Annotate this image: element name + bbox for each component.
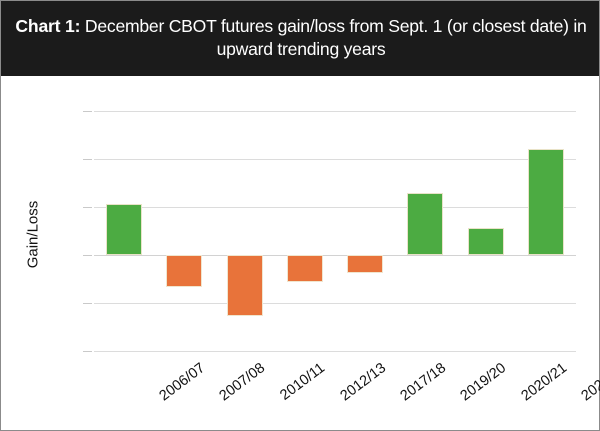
chart-figure: Chart 1: December CBOT futures gain/loss… xyxy=(0,0,600,431)
y-axis-tick-mark xyxy=(83,351,92,352)
x-axis-tick-label: 2007/08 xyxy=(217,360,268,404)
gridline xyxy=(94,159,576,160)
bar-2010-11 xyxy=(227,255,263,316)
bar-2007-08 xyxy=(166,255,202,287)
x-axis-tick-label: 2021/22 xyxy=(578,360,600,404)
x-axis-tick-label: 2010/11 xyxy=(277,360,328,404)
page-title: Chart 1: December CBOT futures gain/loss… xyxy=(13,15,589,59)
x-axis-tick-label: 2006/07 xyxy=(157,360,208,404)
y-axis-title: Gain/Loss xyxy=(25,155,42,315)
y-axis-tick-mark xyxy=(83,207,92,208)
chart-title-bar: Chart 1: December CBOT futures gain/loss… xyxy=(1,1,599,76)
bar-2020-21 xyxy=(468,228,504,255)
bar-2021-22 xyxy=(528,149,564,255)
bar-2017-18 xyxy=(347,255,383,273)
y-axis-tick-mark xyxy=(83,111,92,112)
chart-title-label: Chart 1: xyxy=(15,16,80,36)
bar-2006-07 xyxy=(106,204,142,255)
gridline xyxy=(94,207,576,208)
x-axis-tick-label: 2020/21 xyxy=(518,360,569,404)
bar-2019-20 xyxy=(407,193,443,255)
plot-area: $1.50$1.00$0.50$0.00-$0.50-$1.00 xyxy=(94,111,576,351)
y-axis-tick-mark xyxy=(83,255,92,256)
x-axis-tick-label: 2017/18 xyxy=(398,360,449,404)
gridline xyxy=(94,303,576,304)
x-axis-tick-label: 2019/20 xyxy=(458,360,509,404)
gridline xyxy=(94,111,576,112)
x-axis-tick-label: 2012/13 xyxy=(337,360,388,404)
chart-title-body: December CBOT futures gain/loss from Sep… xyxy=(80,16,586,58)
y-axis-tick-mark xyxy=(83,159,92,160)
y-axis-tick-mark xyxy=(83,303,92,304)
plot-wrapper: Gain/Loss $1.50$1.00$0.50$0.00-$0.50-$1.… xyxy=(1,76,599,430)
gridline xyxy=(94,351,576,352)
bar-2012-13 xyxy=(287,255,323,282)
